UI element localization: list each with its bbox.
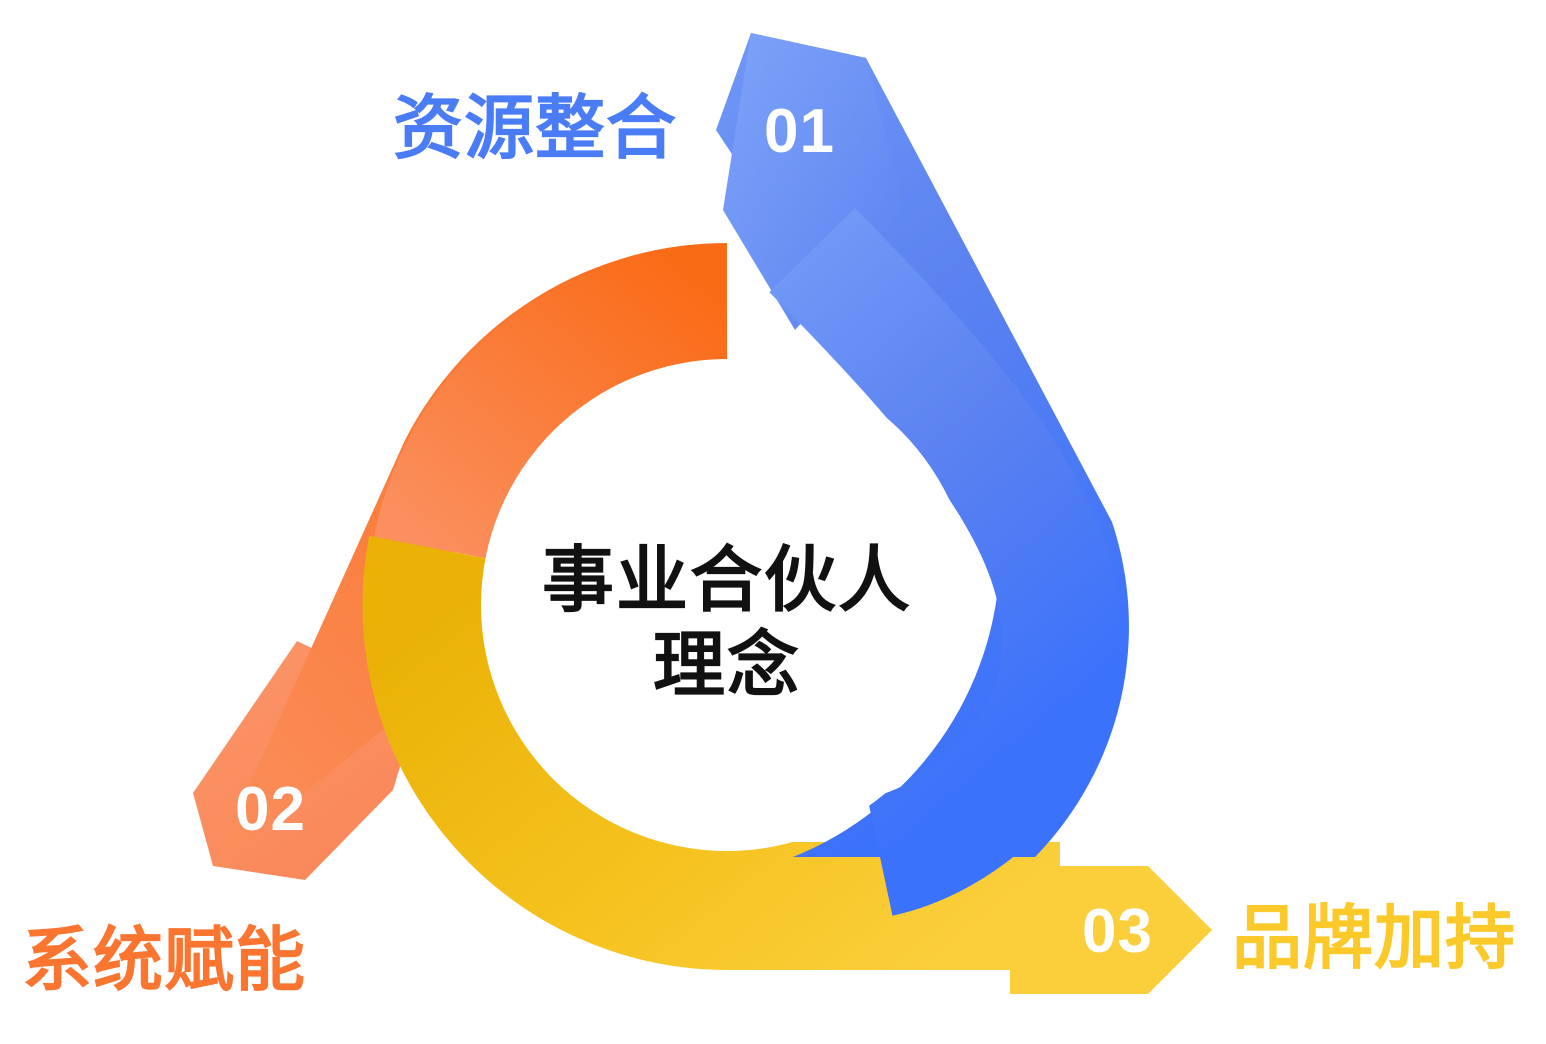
- segment-01-number: 01: [764, 97, 835, 166]
- segment-02-number: 02: [235, 775, 306, 844]
- segment-03-label[interactable]: 品牌加持: [1232, 899, 1516, 977]
- segment-02-label[interactable]: 系统赋能: [22, 921, 306, 999]
- center-title-line2: 理念: [653, 626, 801, 706]
- segment-03-number: 03: [1082, 897, 1153, 966]
- segment-01-label[interactable]: 资源整合: [393, 89, 677, 167]
- diagram-canvas: 02 03 01 事业合伙人: [0, 0, 1546, 1044]
- center-title-line1: 事业合伙人: [542, 541, 912, 621]
- partner-concept-cycle-diagram: 02 03 01 事业合伙人: [0, 0, 1546, 1044]
